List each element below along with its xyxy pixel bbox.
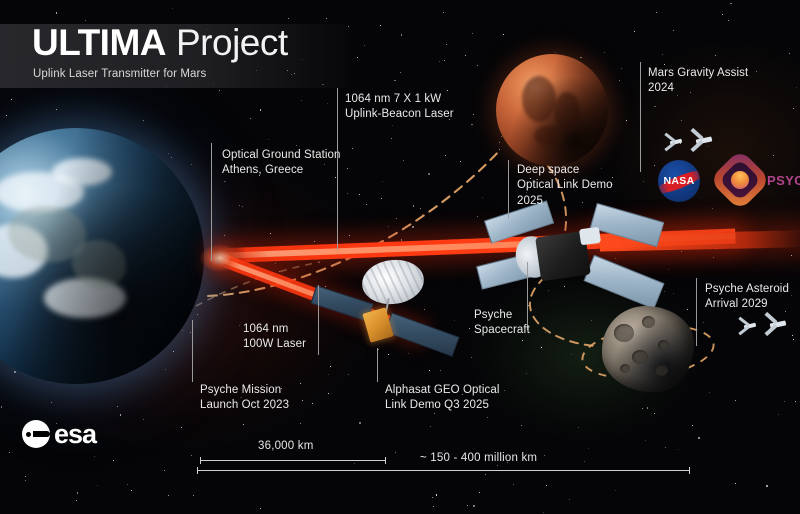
ground-station-flare <box>200 244 240 272</box>
nasa-logo: NASA <box>658 160 700 202</box>
annotation-uplink-beacon-laser: 1064 nm 7 X 1 kW Uplink-Beacon Laser <box>345 92 454 123</box>
leader-line-1064nm-100w-laser <box>318 285 319 355</box>
mars-planet <box>496 54 608 166</box>
esa-logo: esa <box>22 420 96 448</box>
mini-spacecraft-1 <box>662 134 686 152</box>
scale-bar-deep-space-distance <box>197 470 690 471</box>
infographic-canvas: ULTIMA Project Uplink Laser Transmitter … <box>0 0 800 514</box>
mini-spacecraft-3 <box>736 318 760 336</box>
scale-label-geo-distance: 36,000 km <box>258 440 314 452</box>
psyche-logo: PSYCHE <box>718 158 800 202</box>
annotation-psyche-spacecraft: Psyche Spacecraft <box>474 308 530 339</box>
esa-emblem-icon <box>22 420 50 448</box>
nasa-wordmark: NASA <box>658 175 700 187</box>
page-subtitle: Uplink Laser Transmitter for Mars <box>33 68 206 80</box>
leader-line-optical-ground-station <box>211 143 212 261</box>
alphasat-satellite-graphic <box>310 258 460 368</box>
annotation-alphasat-geo-demo: Alphasat GEO Optical Link Demo Q3 2025 <box>385 383 500 414</box>
annotation-deep-space-optical-link-demo: Deep space Optical Link Demo 2025 <box>517 163 613 209</box>
mini-spacecraft-2 <box>688 130 716 152</box>
annotation-mars-gravity-assist: Mars Gravity Assist 2024 <box>648 66 748 97</box>
title-light-text: Project <box>176 24 288 61</box>
title-bold-text: ULTIMA <box>32 24 166 61</box>
annotation-optical-ground-station: Optical Ground Station Athens, Greece <box>222 148 341 179</box>
leader-line-psyche-mission-launch <box>192 320 193 382</box>
annotation-psyche-mission-launch: Psyche Mission Launch Oct 2023 <box>200 383 289 414</box>
leader-line-alphasat-geo-demo <box>377 348 378 382</box>
mini-spacecraft-4 <box>762 314 790 336</box>
leader-line-uplink-beacon-laser <box>337 88 338 250</box>
psyche-emblem-icon <box>709 149 771 211</box>
psyche-asteroid-graphic <box>602 306 694 392</box>
leader-line-mars-gravity-assist <box>640 62 641 172</box>
esa-wordmark: esa <box>54 421 96 448</box>
psyche-wordmark: PSYCHE <box>767 173 800 188</box>
annotation-psyche-asteroid-arrival: Psyche Asteroid Arrival 2029 <box>705 282 789 313</box>
annotation-1064nm-100w-laser: 1064 nm 100W Laser <box>243 322 306 353</box>
page-title: ULTIMA Project <box>32 24 288 61</box>
scale-bar-geo-distance <box>200 460 386 461</box>
scale-label-deep-space-distance: ~ 150 - 400 million km <box>420 452 537 464</box>
leader-line-deep-space-optical-link-demo <box>508 160 509 218</box>
leader-line-psyche-asteroid-arrival <box>696 278 697 346</box>
